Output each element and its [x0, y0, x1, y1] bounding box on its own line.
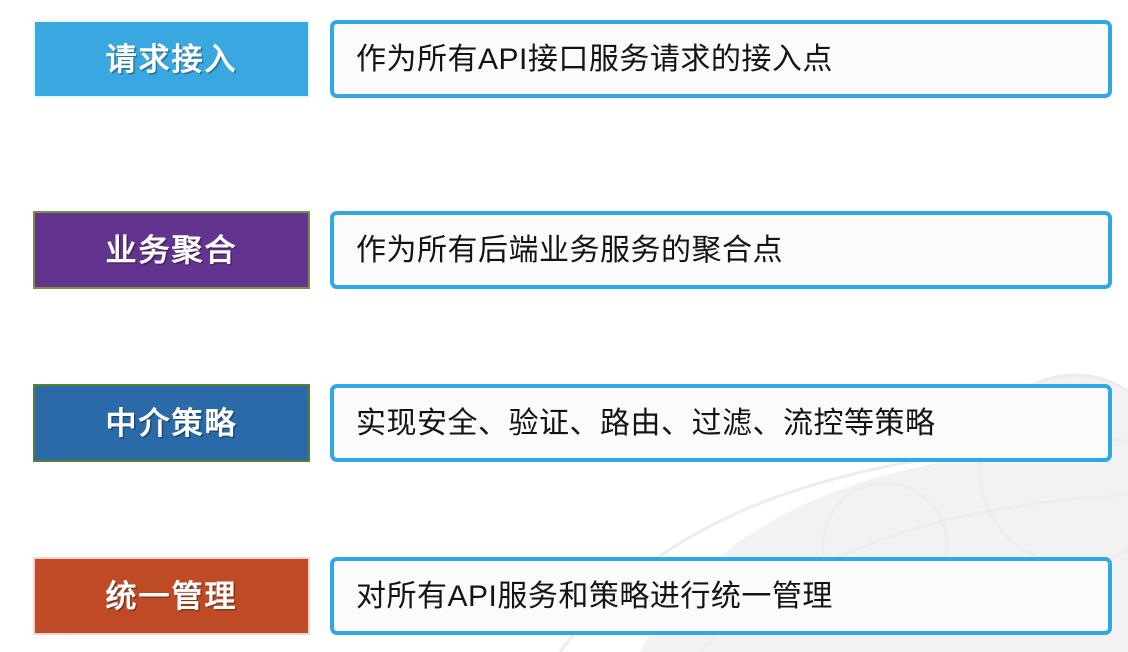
capability-label-text: 中介策略	[106, 408, 238, 439]
capability-description-box-request-access[interactable]: 作为所有API接口服务请求的接入点	[330, 20, 1112, 98]
capability-label-chip-mediation-policy[interactable]: 中介策略	[33, 384, 310, 462]
capability-label-chip-business-aggregation[interactable]: 业务聚合	[33, 211, 310, 289]
capability-description-text: 作为所有后端业务服务的聚合点	[356, 234, 783, 267]
capability-label-chip-unified-management[interactable]: 统一管理	[33, 557, 310, 635]
capability-description-box-unified-management[interactable]: 对所有API服务和策略进行统一管理	[330, 557, 1112, 635]
capability-label-text: 统一管理	[106, 581, 238, 612]
slide-canvas: 请求接入 作为所有API接口服务请求的接入点 业务聚合 作为所有后端业务服务的聚…	[0, 0, 1128, 652]
capability-description-text: 实现安全、验证、路由、过滤、流控等策略	[356, 407, 936, 440]
capability-label-text: 业务聚合	[106, 235, 238, 266]
capability-label-text: 请求接入	[106, 44, 238, 75]
capability-row: 请求接入 作为所有API接口服务请求的接入点	[33, 20, 1112, 98]
capability-description-box-business-aggregation[interactable]: 作为所有后端业务服务的聚合点	[330, 211, 1112, 289]
capability-row: 业务聚合 作为所有后端业务服务的聚合点	[33, 211, 1112, 289]
capability-description-box-mediation-policy[interactable]: 实现安全、验证、路由、过滤、流控等策略	[330, 384, 1112, 462]
capability-label-chip-request-access[interactable]: 请求接入	[33, 20, 310, 98]
capability-description-text: 对所有API服务和策略进行统一管理	[356, 580, 833, 613]
row-spacer	[310, 211, 330, 289]
row-spacer	[310, 20, 330, 98]
capability-row: 中介策略 实现安全、验证、路由、过滤、流控等策略	[33, 384, 1112, 462]
capability-row: 统一管理 对所有API服务和策略进行统一管理	[33, 557, 1112, 635]
row-spacer	[310, 557, 330, 635]
capability-row-list: 请求接入 作为所有API接口服务请求的接入点 业务聚合 作为所有后端业务服务的聚…	[0, 0, 1128, 652]
row-spacer	[310, 384, 330, 462]
capability-description-text: 作为所有API接口服务请求的接入点	[356, 43, 833, 76]
